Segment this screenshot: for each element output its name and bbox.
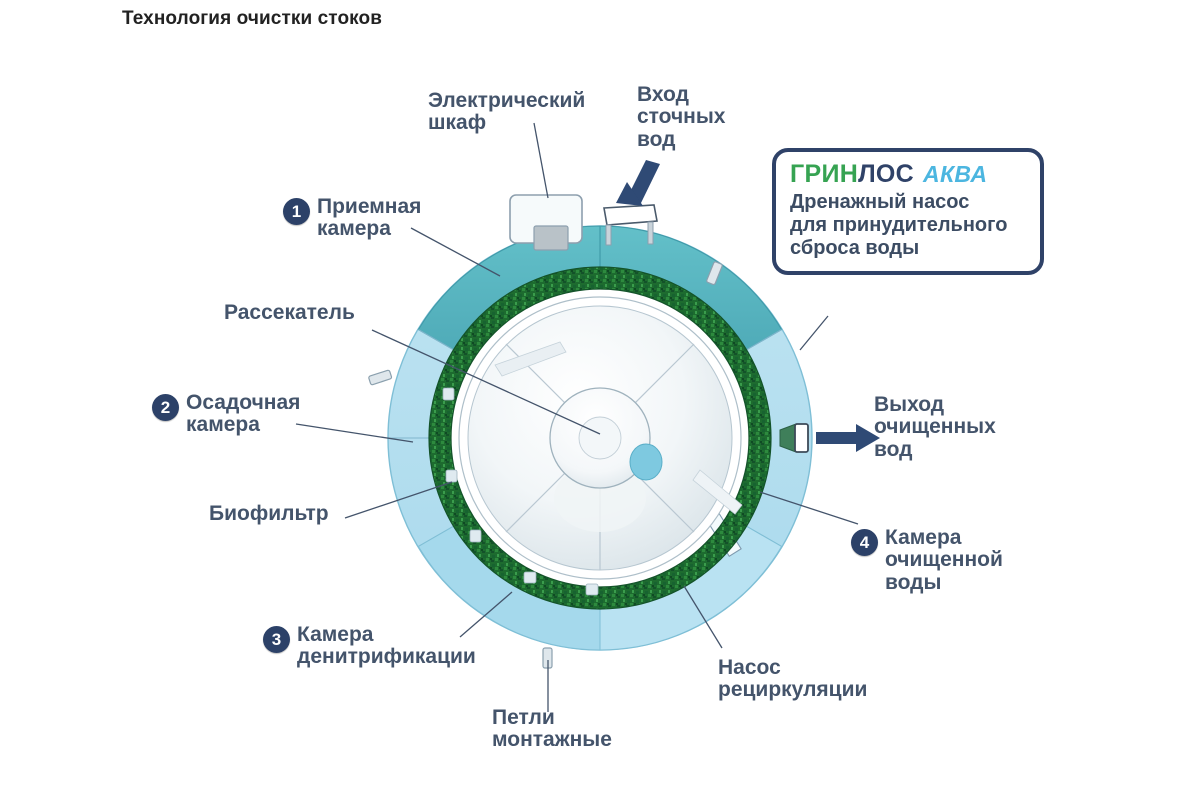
callout-chamber-1-label: Приемная камера xyxy=(317,196,421,241)
callout-chamber-4: 4 Камера очищенной воды xyxy=(851,527,1003,594)
callout-distributor: Рассекатель xyxy=(224,302,355,324)
logo-name-aqua: АКВА xyxy=(923,161,987,187)
badge-number-3: 3 xyxy=(263,626,290,653)
badge-number-2: 2 xyxy=(152,394,179,421)
clean-outlet-nozzle xyxy=(780,424,808,452)
callout-chamber-2-label: Осадочная камера xyxy=(186,392,300,437)
callout-chamber-1: 1 Приемная камера xyxy=(283,196,421,241)
waste-inlet-arrow xyxy=(616,160,660,206)
product-logo-callout: ГРИНЛОСАКВА Дренажный насос для принудит… xyxy=(772,148,1044,275)
callout-electrical-cabinet: Электрический шкаф xyxy=(428,90,585,135)
diagram-stage: Технология очистки стоков xyxy=(0,0,1200,800)
callout-chamber-3-label: Камера денитрификации xyxy=(297,624,476,669)
logo-description: Дренажный насос для принудительного сбро… xyxy=(790,191,1026,259)
callout-waste-inlet: Вход сточных вод xyxy=(637,84,725,151)
callout-chamber-2: 2 Осадочная камера xyxy=(152,392,300,437)
callout-biofilter: Биофильтр xyxy=(209,503,329,525)
logo-name-navy: ЛОС xyxy=(858,160,914,188)
recirculation-node xyxy=(630,444,662,480)
clean-outlet-arrow xyxy=(816,424,880,452)
callout-chamber-3: 3 Камера денитрификации xyxy=(263,624,476,669)
callout-mounting-loops: Петли монтажные xyxy=(492,707,612,752)
badge-number-4: 4 xyxy=(851,529,878,556)
inner-dome xyxy=(459,297,742,579)
distributor-core xyxy=(579,417,621,459)
callout-recirculation-pump: Насос рециркуляции xyxy=(718,657,867,702)
logo-name-green: ГРИН xyxy=(790,160,858,188)
badge-number-1: 1 xyxy=(283,198,310,225)
electrical-cabinet xyxy=(510,195,582,250)
callout-chamber-4-label: Камера очищенной воды xyxy=(885,527,1003,594)
logo-wordmark: ГРИНЛОСАКВА xyxy=(790,160,1026,189)
callout-clean-outlet: Выход очищенных вод xyxy=(874,394,996,461)
